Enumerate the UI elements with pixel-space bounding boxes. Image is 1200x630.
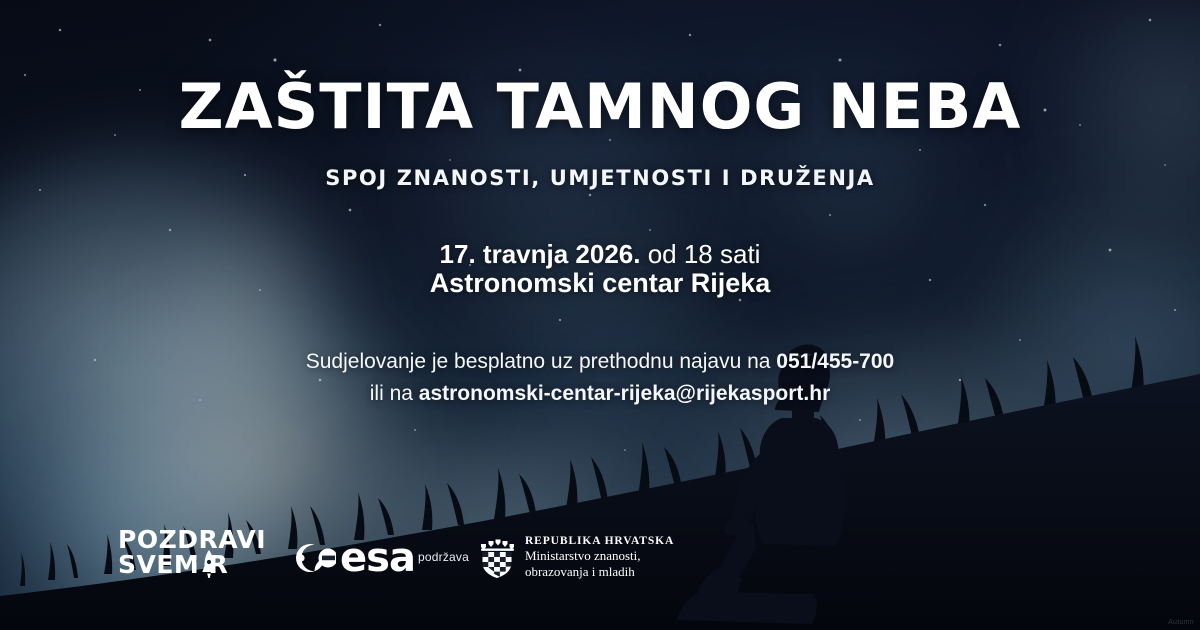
- ministry-logo-block[interactable]: podržava: [418, 534, 674, 580]
- email-address[interactable]: astronomski-centar-rijeka@rijekasport.hr: [419, 382, 830, 405]
- pozdravi-svemir-logo[interactable]: POZDRAVI SVEM R: [118, 528, 266, 577]
- pozdravi-logo-line2: SVEM R: [118, 553, 266, 578]
- registration-phone-line: Sudjelovanje je besplatno uz prethodnu n…: [0, 346, 1200, 378]
- esa-logo[interactable]: esa: [292, 536, 415, 580]
- phone-number[interactable]: 051/455-700: [776, 350, 894, 373]
- supported-by-label: podržava: [418, 550, 469, 564]
- poster-subtitle: SPOJ ZNANOSTI, UMJETNOSTI I DRUŽENJA: [0, 166, 1200, 190]
- croatian-coat-of-arms-icon: [479, 535, 515, 579]
- page-title: ZAŠTITA TAMNOG NEBA: [0, 76, 1200, 138]
- ministry-name-line2: obrazovanja i mladih: [525, 564, 674, 580]
- event-date: 17. travnja 2026.: [440, 239, 641, 269]
- sponsor-logo-row: POZDRAVI SVEM R esa p: [0, 520, 1200, 600]
- event-venue: Astronomski centar Rijeka: [0, 268, 1200, 299]
- registration-info: Sudjelovanje je besplatno uz prethodnu n…: [0, 346, 1200, 409]
- ministry-name: REPUBLIKA HRVATSKA Ministarstvo znanosti…: [525, 534, 674, 580]
- esa-wordmark: esa: [340, 538, 415, 578]
- rocket-icon: [202, 549, 216, 583]
- event-poster: ZAŠTITA TAMNOG NEBA SPOJ ZNANOSTI, UMJET…: [0, 0, 1200, 630]
- event-datetime: 17. travnja 2026. od 18 sati: [0, 238, 1200, 272]
- ministry-country-line: REPUBLIKA HRVATSKA: [525, 534, 674, 548]
- artist-watermark: Autumn: [1168, 619, 1194, 626]
- ministry-name-line1: Ministarstvo znanosti,: [525, 548, 674, 564]
- event-time: od 18 sati: [640, 239, 760, 269]
- registration-email-line: ili na astronomski-centar-rijeka@rijekas…: [0, 378, 1200, 410]
- registration-text: Sudjelovanje je besplatno uz prethodnu n…: [306, 350, 777, 373]
- esa-emblem-icon: [292, 536, 336, 580]
- registration-text-alt: ili na: [370, 382, 419, 405]
